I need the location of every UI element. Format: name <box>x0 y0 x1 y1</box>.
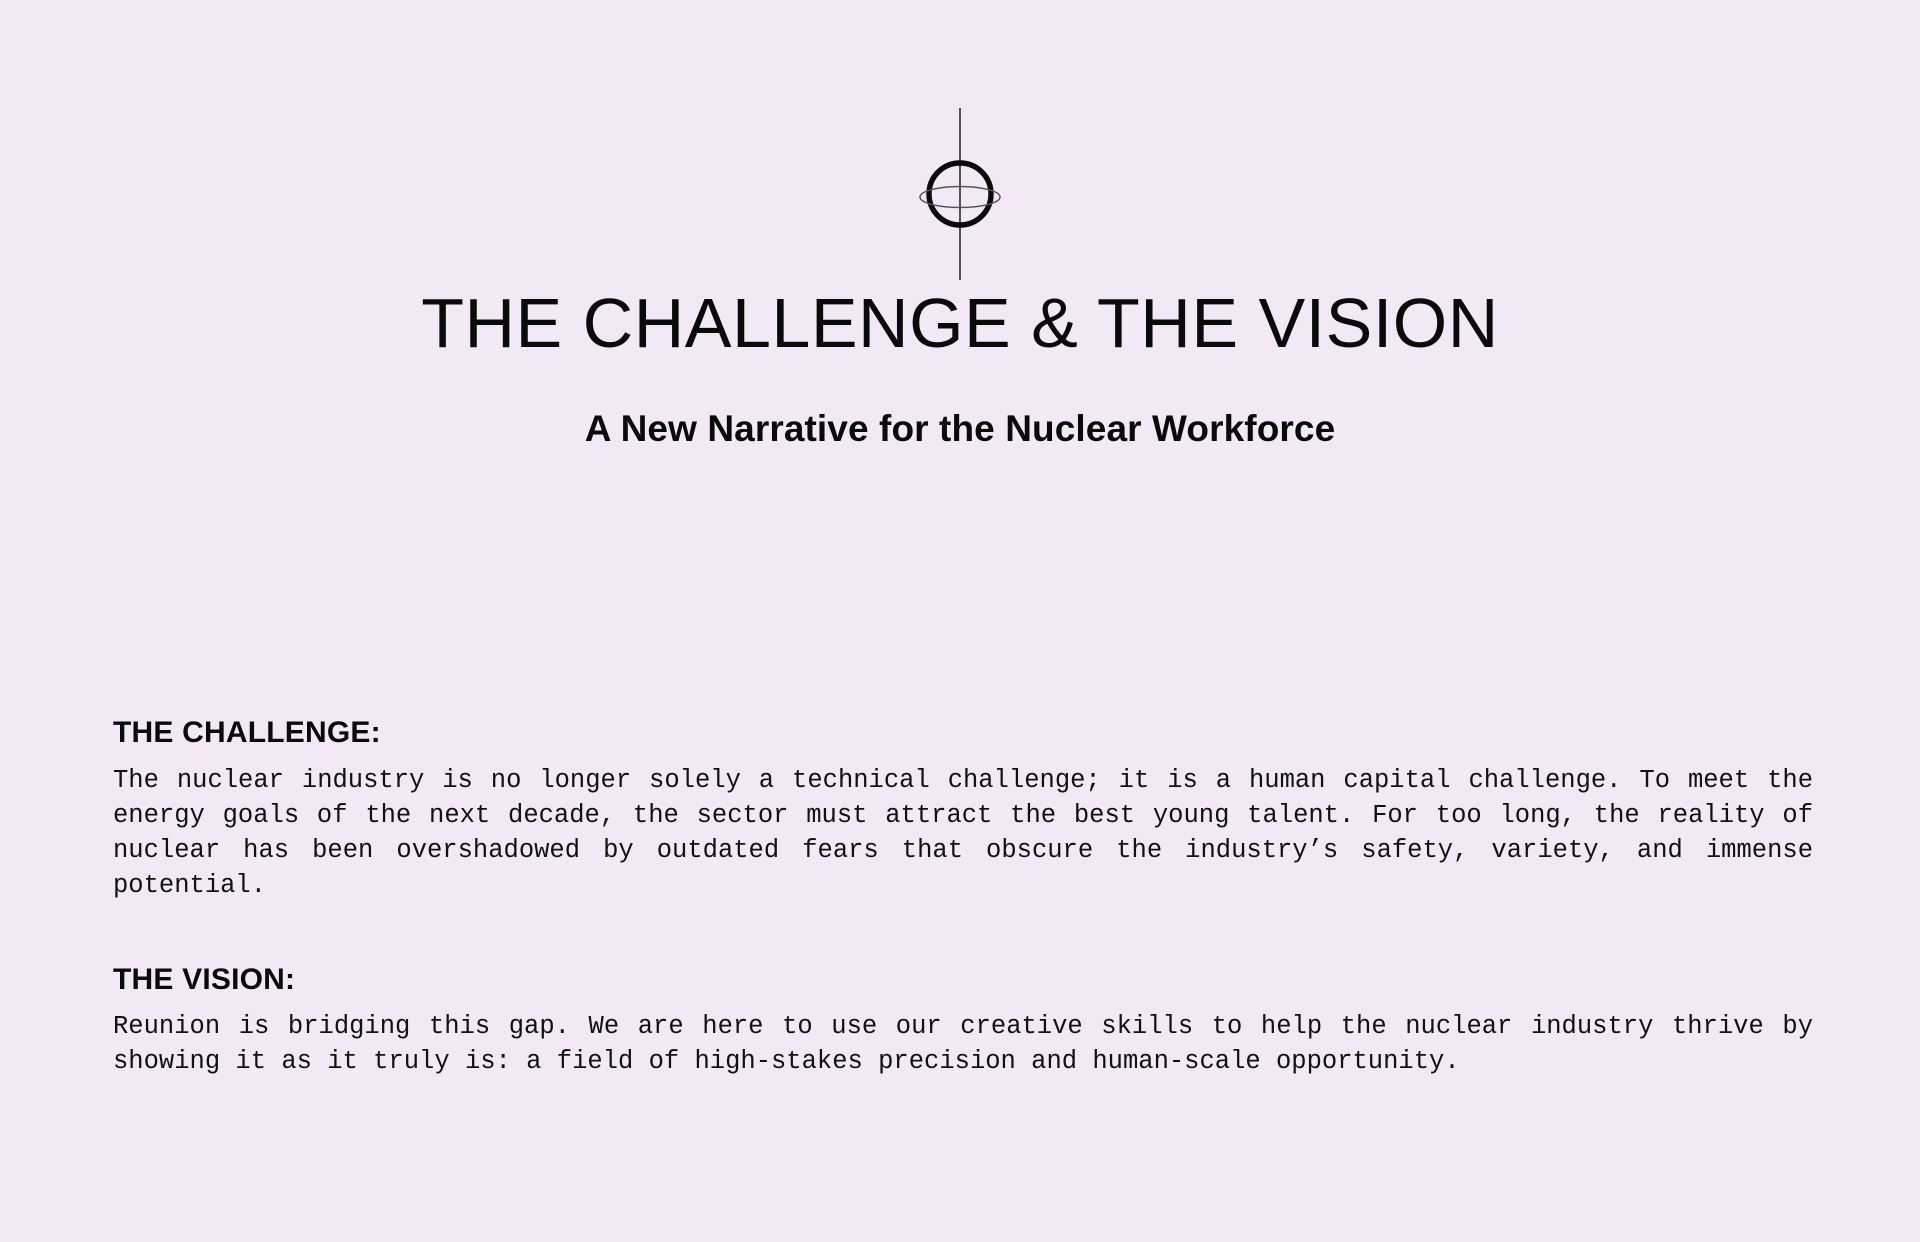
section-the-challenge: THE CHALLENGE: The nuclear industry is n… <box>113 716 1813 903</box>
page-title: THE CHALLENGE & THE VISION <box>0 288 1920 358</box>
slide-content: THE CHALLENGE: The nuclear industry is n… <box>113 716 1813 1079</box>
logo-container <box>0 104 1920 284</box>
reunion-globe-mark-icon <box>900 104 1020 284</box>
page-subtitle: A New Narrative for the Nuclear Workforc… <box>0 407 1920 451</box>
slide-header: THE CHALLENGE & THE VISION A New Narrati… <box>0 288 1920 451</box>
slide-canvas: THE CHALLENGE & THE VISION A New Narrati… <box>0 0 1920 1242</box>
section-body-vision: Reunion is bridging this gap. We are her… <box>113 1009 1813 1079</box>
section-the-vision: THE VISION: Reunion is bridging this gap… <box>113 963 1813 1080</box>
section-heading-vision: THE VISION: <box>113 963 1813 998</box>
section-heading-challenge: THE CHALLENGE: <box>113 716 1813 751</box>
section-body-challenge: The nuclear industry is no longer solely… <box>113 763 1813 903</box>
